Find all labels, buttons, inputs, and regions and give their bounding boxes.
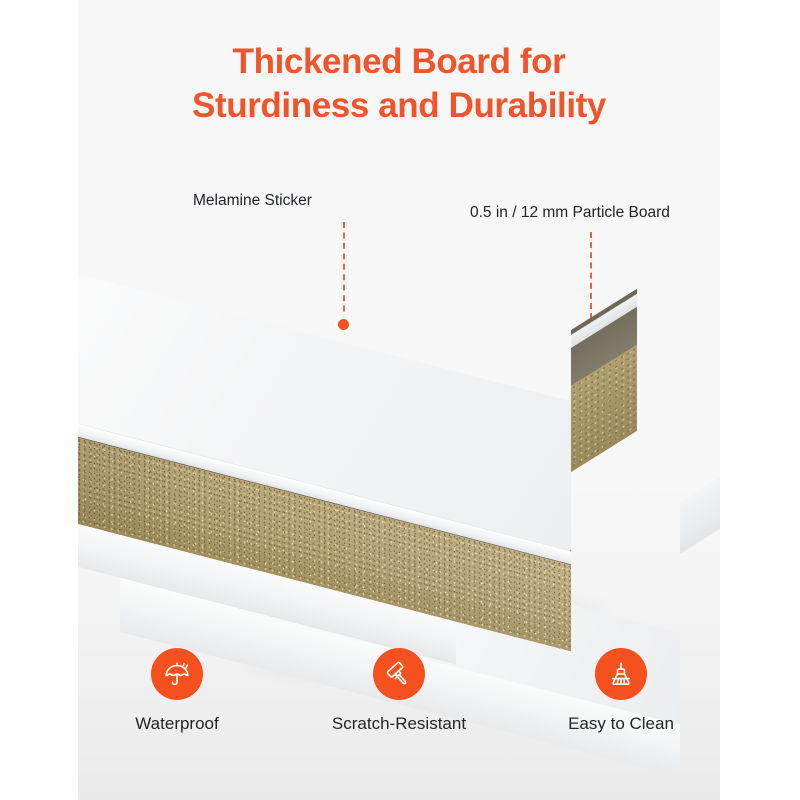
umbrella-icon	[151, 648, 203, 700]
page-title-line-2: Sturdiness and Durability	[78, 84, 720, 128]
callout-label-melamine-sticker: Melamine Sticker	[193, 192, 312, 211]
feature-label-easy-to-clean: Easy to Clean	[568, 714, 674, 734]
hammer-icon	[373, 648, 425, 700]
feature-label-scratch-resistant: Scratch-Resistant	[332, 714, 466, 734]
feature-waterproof: Waterproof	[97, 648, 257, 734]
page-title: Thickened Board for Sturdiness and Durab…	[78, 40, 720, 128]
callout-label-particle-board: 0.5 in / 12 mm Particle Board	[470, 204, 670, 223]
broom-icon	[595, 648, 647, 700]
page-title-line-1: Thickened Board for	[78, 40, 720, 84]
layer-melamine-sheet-top	[78, 250, 646, 440]
feature-list: Waterproof Scratch-Resistant	[78, 648, 720, 734]
board-cross-section-illustration	[78, 250, 720, 620]
feature-easy-to-clean: Easy to Clean	[541, 648, 701, 734]
feature-label-waterproof: Waterproof	[135, 714, 218, 734]
bottom-sheet-side-edge	[680, 461, 720, 554]
infographic-page: Thickened Board for Sturdiness and Durab…	[0, 0, 800, 800]
content-canvas: Thickened Board for Sturdiness and Durab…	[78, 0, 720, 800]
melamine-side-edge	[571, 294, 637, 348]
feature-scratch-resistant: Scratch-Resistant	[319, 648, 479, 734]
